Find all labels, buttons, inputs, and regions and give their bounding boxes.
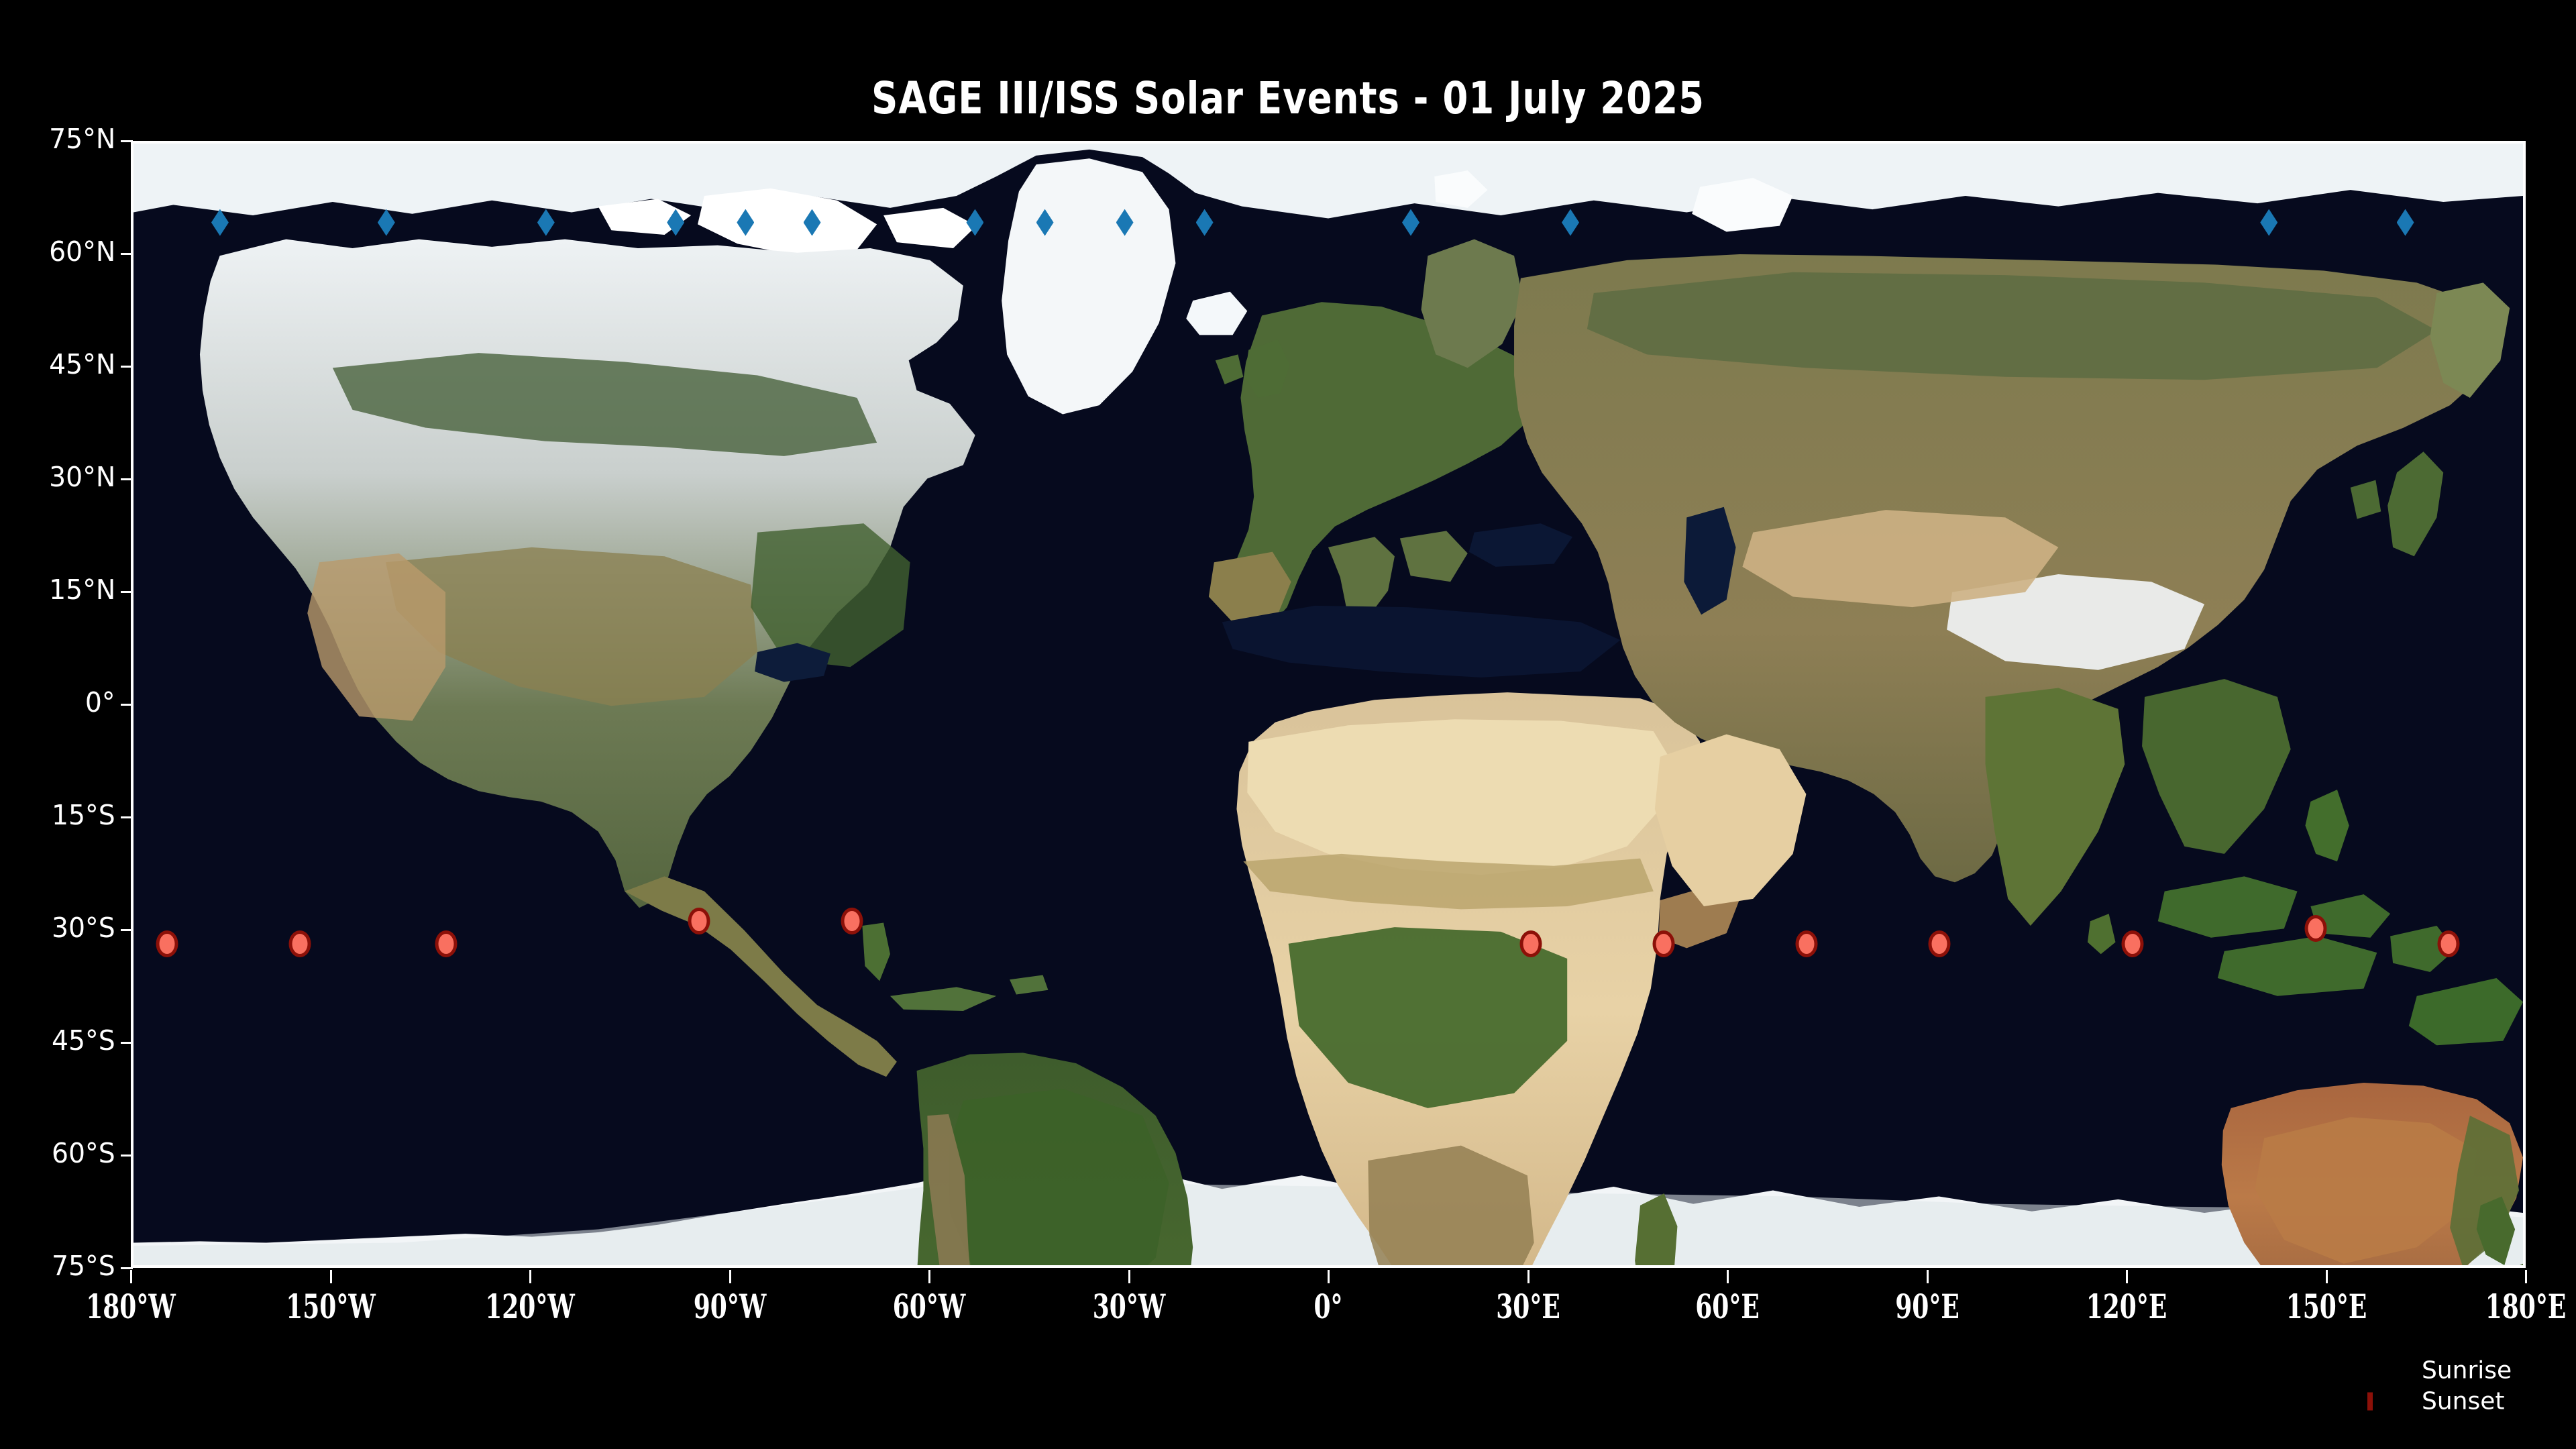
sunrise-marker[interactable] bbox=[2397, 209, 2414, 236]
y-axis-tick bbox=[121, 1042, 133, 1044]
circle-marker-icon bbox=[2368, 1395, 2370, 1408]
legend-item-sunrise[interactable]: Sunrise bbox=[2368, 1355, 2569, 1386]
y-axis-tick bbox=[121, 140, 133, 142]
y-axis-tick bbox=[121, 816, 133, 818]
x-axis-tick-label: 180°W bbox=[86, 1287, 176, 1326]
x-axis-tick-label: 150°E bbox=[2286, 1287, 2367, 1326]
x-axis-tick bbox=[928, 1270, 930, 1283]
sunset-marker[interactable] bbox=[845, 911, 860, 931]
y-axis-tick bbox=[121, 366, 133, 368]
y-axis-tick-label: 60°N bbox=[49, 235, 115, 268]
y-axis-tick-label: 45°S bbox=[52, 1024, 115, 1057]
sunrise-marker[interactable] bbox=[1562, 209, 1579, 236]
event-marker-layer bbox=[133, 144, 2523, 1265]
sunrise-marker[interactable] bbox=[804, 209, 821, 236]
sunset-marker[interactable] bbox=[691, 911, 706, 931]
y-axis-tick-label: 30°N bbox=[49, 461, 115, 493]
x-axis-tick bbox=[729, 1270, 731, 1283]
x-axis-tick-label: 120°W bbox=[485, 1287, 575, 1326]
sunset-marker[interactable] bbox=[1932, 934, 1947, 954]
x-axis-tick bbox=[1128, 1270, 1130, 1283]
y-axis-tick-label: 45°N bbox=[49, 348, 115, 380]
sunset-marker[interactable] bbox=[2125, 934, 2140, 954]
x-axis-tick-label: 30°W bbox=[1092, 1287, 1165, 1326]
x-axis-tick bbox=[1527, 1270, 1529, 1283]
solar-events-map-figure: SAGE III/ISS Solar Events - 01 July 2025 bbox=[0, 0, 2576, 1449]
x-axis-tick-label: 120°E bbox=[2086, 1287, 2167, 1326]
x-axis-tick bbox=[130, 1270, 132, 1283]
x-axis-tick-label: 180°E bbox=[2485, 1287, 2567, 1326]
sunset-marker[interactable] bbox=[1656, 934, 1671, 954]
x-axis-tick-label: 30°E bbox=[1496, 1287, 1560, 1326]
x-axis-tick bbox=[1727, 1270, 1729, 1283]
x-axis-tick bbox=[1927, 1270, 1929, 1283]
x-axis-tick-label: 60°E bbox=[1695, 1287, 1760, 1326]
x-axis-tick bbox=[2525, 1270, 2527, 1283]
x-axis-tick bbox=[1328, 1270, 1330, 1283]
sunrise-marker[interactable] bbox=[1402, 209, 1419, 236]
x-axis-tick-label: 90°W bbox=[693, 1287, 766, 1326]
x-axis-tick-label: 0° bbox=[1313, 1287, 1342, 1326]
y-axis-tick-label: 0° bbox=[85, 686, 115, 718]
y-axis-tick-label: 15°N bbox=[49, 574, 115, 606]
legend-label-sunset: Sunset bbox=[2422, 1388, 2505, 1415]
y-axis-tick-label: 15°S bbox=[52, 799, 115, 831]
y-axis-tick-label: 75°N bbox=[49, 123, 115, 155]
sunrise-marker[interactable] bbox=[1116, 209, 1134, 236]
sunset-marker[interactable] bbox=[292, 934, 307, 954]
y-axis-tick-label: 30°S bbox=[52, 912, 115, 944]
x-axis-tick-label: 60°W bbox=[893, 1287, 966, 1326]
legend-item-sunset[interactable]: Sunset bbox=[2368, 1386, 2569, 1417]
sunset-marker[interactable] bbox=[439, 934, 454, 954]
y-axis-tick bbox=[121, 929, 133, 931]
x-axis-tick-label: 150°W bbox=[286, 1287, 376, 1326]
y-axis-tick bbox=[121, 1267, 133, 1269]
sunrise-marker[interactable] bbox=[537, 209, 555, 236]
legend-label-sunrise: Sunrise bbox=[2422, 1357, 2512, 1385]
y-axis-tick bbox=[121, 591, 133, 593]
legend: Sunrise Sunset bbox=[2368, 1355, 2569, 1417]
y-axis-tick bbox=[121, 253, 133, 255]
sunrise-marker[interactable] bbox=[1196, 209, 1214, 236]
y-axis-tick bbox=[121, 1155, 133, 1157]
y-axis-tick-label: 60°S bbox=[52, 1137, 115, 1169]
sunset-marker[interactable] bbox=[2308, 918, 2323, 938]
sunrise-marker[interactable] bbox=[737, 209, 754, 236]
sunset-marker[interactable] bbox=[1799, 934, 1815, 954]
x-axis-tick-label: 90°E bbox=[1895, 1287, 1960, 1326]
y-axis-tick-label: 75°S bbox=[52, 1250, 115, 1282]
sunrise-marker[interactable] bbox=[667, 209, 684, 236]
y-axis-tick bbox=[121, 704, 133, 706]
x-axis-tick bbox=[2326, 1270, 2328, 1283]
sunrise-marker[interactable] bbox=[2260, 209, 2277, 236]
y-axis-tick bbox=[121, 478, 133, 480]
x-axis-tick bbox=[330, 1270, 332, 1283]
sunrise-marker[interactable] bbox=[966, 209, 983, 236]
sunset-marker[interactable] bbox=[159, 934, 174, 954]
sunset-marker[interactable] bbox=[2441, 934, 2457, 954]
sunrise-marker[interactable] bbox=[378, 209, 395, 236]
x-axis-tick bbox=[2126, 1270, 2128, 1283]
map-plot-area bbox=[131, 141, 2526, 1268]
page-title: SAGE III/ISS Solar Events - 01 July 2025 bbox=[103, 72, 2473, 124]
x-axis-tick bbox=[529, 1270, 531, 1283]
sunrise-marker[interactable] bbox=[211, 209, 229, 236]
sunrise-marker[interactable] bbox=[1036, 209, 1054, 236]
sunset-marker[interactable] bbox=[1523, 934, 1538, 954]
